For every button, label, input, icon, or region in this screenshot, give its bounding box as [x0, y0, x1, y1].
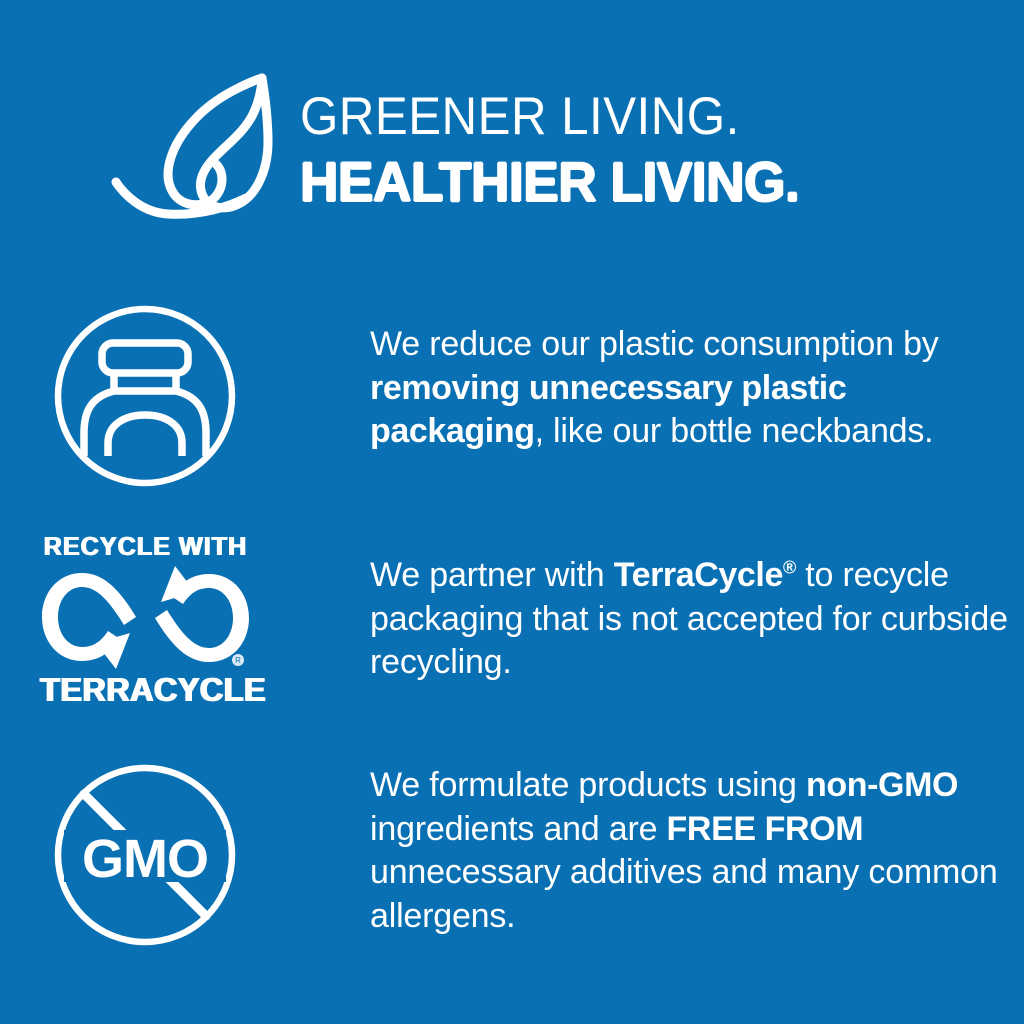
text-seg: We partner with	[370, 556, 614, 594]
feature-row-gmo: GMO We formulate products using non-GMO …	[0, 750, 1024, 960]
text-cell-terracycle: We partner with TerraCycle® to recycle p…	[290, 532, 1024, 685]
terracycle-top-label: RECYCLE WITH	[41, 532, 250, 560]
leaf-flame-logo	[112, 72, 290, 232]
bottle-neckband-icon	[50, 301, 240, 491]
text-seg: We formulate products using	[370, 766, 806, 804]
feature-text-terracycle: We partner with TerraCycle® to recycle p…	[370, 554, 1024, 685]
text-cell-plastic: We reduce our plastic consumption by rem…	[290, 296, 1024, 454]
infinity-recycle-arrows-icon: R	[38, 565, 253, 670]
text-seg: , like our bottle neckbands.	[535, 412, 934, 450]
infographic-page: GREENER LIVING. HEALTHIER LIVING.	[0, 0, 1024, 1024]
gmo-label: GMO	[82, 829, 208, 889]
registered-mark: ®	[783, 558, 796, 578]
text-seg-bold: TerraCycle	[614, 556, 783, 594]
feature-text-gmo: We formulate products using non-GMO ingr…	[370, 764, 1024, 938]
text-seg: We reduce our plastic consumption by	[370, 325, 939, 363]
svg-text:R: R	[235, 656, 241, 665]
icon-cell-terracycle: RECYCLE WITH R	[0, 532, 290, 722]
icon-cell-gmo: GMO	[0, 750, 290, 960]
headline-line-1: GREENER LIVING.	[300, 62, 951, 146]
text-seg-bold: non-GMO	[806, 766, 958, 804]
feature-row-terracycle: RECYCLE WITH R	[0, 532, 1024, 722]
feature-row-plastic: We reduce our plastic consumption by rem…	[0, 296, 1024, 496]
headline-block: GREENER LIVING. HEALTHIER LIVING.	[300, 62, 1000, 212]
terracycle-bottom-label: TERRACYCLE	[40, 672, 251, 708]
text-seg: ingredients and are	[370, 810, 667, 848]
text-seg-bold: FREE FROM	[667, 810, 864, 848]
header: GREENER LIVING. HEALTHIER LIVING.	[0, 62, 1024, 232]
terracycle-logo: RECYCLE WITH R	[38, 532, 253, 708]
no-gmo-icon: GMO	[50, 760, 240, 950]
icon-cell-plastic	[0, 296, 290, 496]
feature-text-plastic: We reduce our plastic consumption by rem…	[370, 323, 1024, 454]
headline-line-2: HEALTHIER LIVING.	[300, 146, 965, 212]
text-seg: unnecessary additives and many common al…	[370, 853, 998, 935]
text-cell-gmo: We formulate products using non-GMO ingr…	[290, 750, 1024, 938]
